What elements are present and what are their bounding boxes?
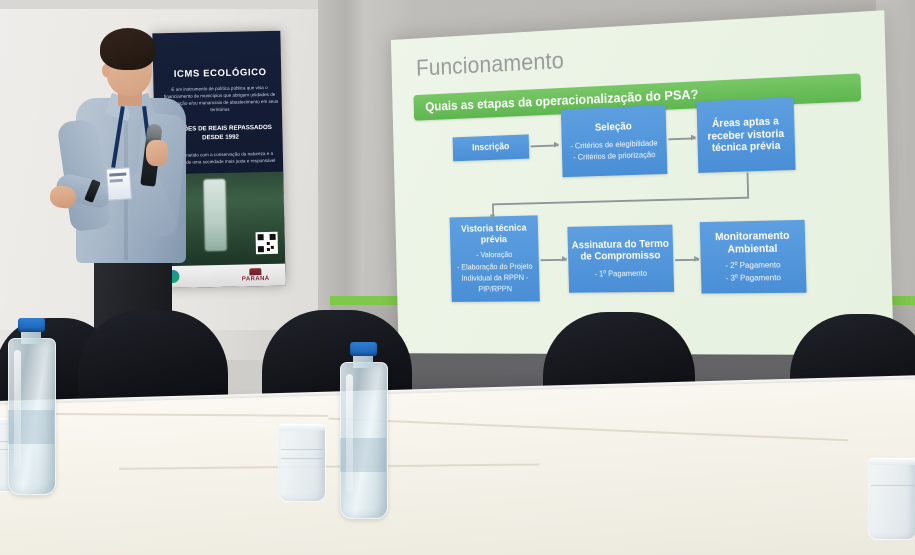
water-bottle — [8, 318, 56, 498]
bottle-highlight — [14, 350, 21, 468]
projection-screen: Funcionamento Quais as etapas da operaci… — [391, 10, 894, 355]
flow-box-item: - Critérios de priorização — [573, 148, 656, 163]
presentation-photo-scene: Funcionamento Quais as etapas da operaci… — [0, 0, 915, 555]
elbow-down-from-areas — [747, 172, 749, 197]
arrow-selecao-to-areas — [668, 137, 695, 139]
plastic-cup — [278, 424, 326, 502]
slide-title: Funcionamento — [416, 47, 564, 82]
parana-logo-label: PARANÁ — [242, 276, 270, 283]
flow-box-heading: Assinatura do Termo de Compromisso — [568, 238, 674, 264]
presenter-right-hand — [146, 140, 168, 166]
cup-rim — [868, 458, 915, 465]
flow-box-assinatura-termo: Assinatura do Termo de Compromisso - 1º … — [567, 225, 674, 293]
cup-rim — [278, 424, 326, 431]
water-bottle — [340, 342, 388, 524]
elbow-across-to-vistoria — [493, 197, 749, 205]
flow-box-heading: Vistoria técnica prévia — [450, 222, 539, 246]
flow-box-monitoramento: Monitoramento Ambiental - 2º Pagamento -… — [700, 220, 807, 294]
flow-box-selecao: Seleção - Critérios de elegibilidade - C… — [561, 105, 668, 177]
cup-ring — [281, 449, 323, 450]
presentation-slide: Funcionamento Quais as etapas da operaci… — [391, 10, 894, 355]
flow-box-inscricao: Inscrição — [453, 134, 530, 161]
flow-box-item: - 1º Pagamento — [594, 267, 647, 279]
flow-box-vistoria-tecnica: Vistoria técnica prévia - Valoração - El… — [450, 215, 540, 302]
cup-ring — [871, 485, 914, 486]
arrow-assinatura-to-monitoramento — [675, 259, 699, 261]
arrow-vistoria-to-assinatura — [540, 259, 566, 261]
flow-box-item: - 3º Pagamento — [726, 271, 781, 284]
flow-box-item: - Elaboração do Projeto Individual da RP… — [451, 260, 540, 295]
bottle-cap — [18, 318, 45, 332]
flow-box-areas-aptas: Áreas aptas a receber vistoria técnica p… — [697, 97, 796, 173]
tablecloth-fold — [28, 413, 328, 417]
conference-table — [0, 378, 915, 555]
bottle-cap — [350, 342, 377, 356]
bottle-highlight — [346, 374, 353, 492]
parana-logo: PARANÁ — [242, 268, 270, 283]
flow-box-heading: Inscrição — [472, 142, 509, 154]
presenter — [58, 28, 198, 338]
presenter-hair — [100, 28, 156, 70]
flow-box-heading: Monitoramento Ambiental — [700, 230, 806, 256]
flow-box-heading: Seleção — [595, 121, 632, 134]
id-badge — [106, 167, 132, 201]
flow-box-item: - Valoração — [476, 249, 513, 261]
plastic-cup — [868, 458, 915, 540]
elbow-down-to-vistoria — [492, 203, 494, 214]
arrow-inscricao-to-selecao — [531, 144, 559, 146]
waterfall-shape — [203, 179, 227, 251]
cup-ring — [281, 458, 323, 459]
flow-box-item: - 2º Pagamento — [725, 259, 780, 272]
tablecloth-fold — [119, 463, 539, 469]
ceiling-line — [0, 0, 330, 9]
qr-code-icon — [256, 232, 278, 254]
flow-box-heading: Áreas aptas a receber vistoria técnica p… — [697, 115, 795, 156]
tablecloth-fold — [328, 418, 848, 441]
